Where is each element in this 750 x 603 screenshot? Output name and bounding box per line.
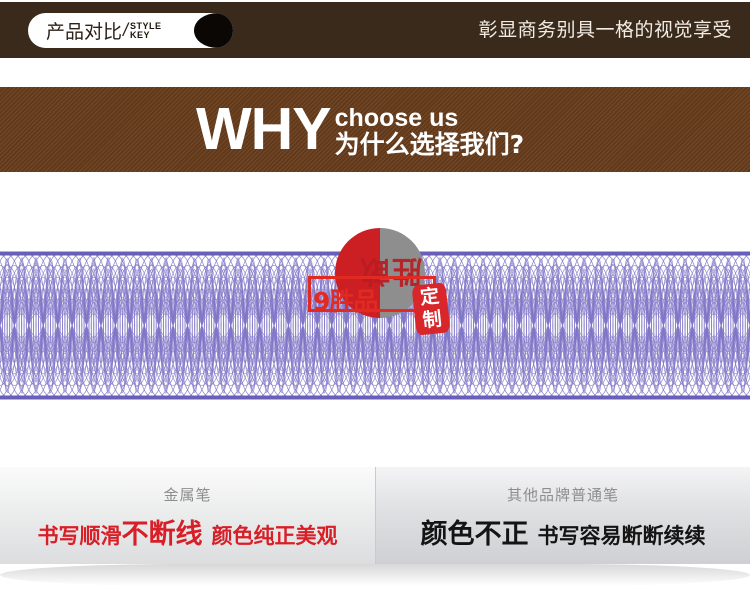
left-claim-part1: 书写顺滑 <box>38 524 122 548</box>
why-choose-us-band: WHY choose us 为什么选择我们? <box>0 87 750 172</box>
right-claim-part2: 书写容易断断续续 <box>538 524 706 548</box>
badge-style-line2: KEY <box>130 31 162 40</box>
why-chinese-subtitle: 为什么选择我们? <box>335 131 525 158</box>
why-band-content: WHY choose us 为什么选择我们? <box>196 87 524 172</box>
why-subheading-group: choose us 为什么选择我们? <box>335 102 525 158</box>
guilloche-pattern-band <box>0 250 750 401</box>
comparison-right-title: 其他品牌普通笔 <box>376 484 750 505</box>
badge-chinese-label: 产品对比 <box>46 17 122 44</box>
comparison-column-metal-pen: 金属笔 书写顺滑不断线颜色纯正美观 <box>0 467 375 564</box>
badge-slash: / <box>123 20 128 41</box>
comparison-column-other-brand-pen: 其他品牌普通笔 颜色不正书写容易断断续续 <box>375 467 750 564</box>
why-heading-word: WHY <box>196 100 331 159</box>
comparison-right-claim: 颜色不正书写容易断断续续 <box>376 512 750 551</box>
left-claim-part2: 不断线 <box>122 519 203 550</box>
product-comparison-badge: 产品对比 / STYLE KEY <box>28 13 233 48</box>
top-header-bar: 产品对比 / STYLE KEY 彰显商务别具一格的视觉享受 <box>0 2 750 58</box>
comparison-left-claim: 书写顺滑不断线颜色纯正美观 <box>0 512 375 551</box>
product-comparison-panel: 金属笔 书写顺滑不断线颜色纯正美观 其他品牌普通笔 颜色不正书写容易断断续续 <box>0 467 750 564</box>
black-circle-icon <box>194 13 233 48</box>
badge-style-key-label: STYLE KEY <box>130 22 162 40</box>
why-english-subtitle: choose us <box>335 105 525 131</box>
right-claim-part1: 颜色不正 <box>421 519 529 550</box>
left-claim-part3: 颜色纯正美观 <box>212 524 338 548</box>
comparison-left-title: 金属笔 <box>0 484 375 505</box>
guilloche-pattern-graphic <box>0 250 750 401</box>
header-tagline: 彰显商务别具一格的视觉享受 <box>478 15 732 42</box>
